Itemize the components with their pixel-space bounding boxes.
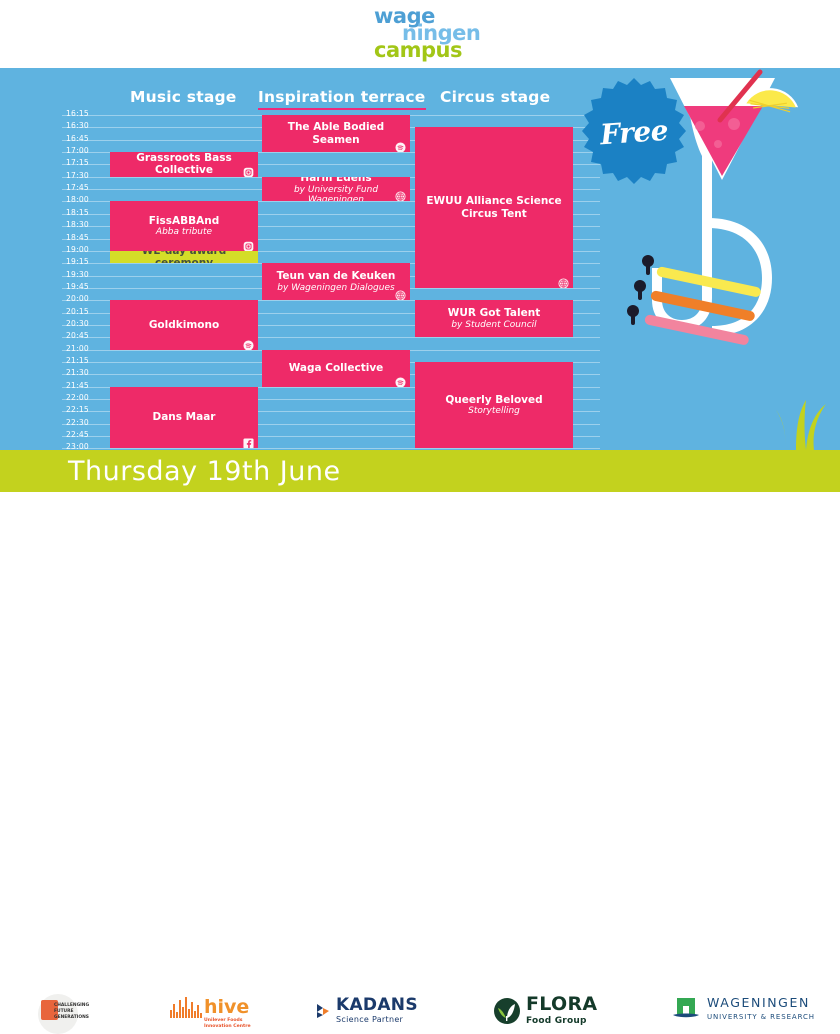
event-title: Teun van de Keuken (277, 270, 396, 282)
globe-icon[interactable] (558, 274, 569, 285)
kadans-tagline: Science Partner (336, 1015, 418, 1024)
time-label: 18:15 (66, 208, 108, 217)
facebook-icon[interactable] (243, 434, 254, 445)
time-label: 20:15 (66, 307, 108, 316)
schedule-event[interactable]: EWUU Alliance Science Circus Tent (415, 127, 573, 288)
schedule-event[interactable]: Dans Maar (110, 387, 258, 449)
hive-wordmark: hive (204, 998, 249, 1016)
event-title: Waga Collective (289, 362, 384, 374)
schedule-event[interactable]: Harm Edensby University Fund Wageningen (262, 177, 410, 202)
schedule-event[interactable]: Grassroots Bass Collective (110, 152, 258, 177)
flora-leaf-icon (494, 998, 520, 1024)
spotify-icon[interactable] (243, 336, 254, 347)
spotify-icon[interactable] (395, 373, 406, 384)
schedule-panel: Free Music stage Inspiration terrace Cir… (0, 68, 840, 450)
time-label: 22:15 (66, 405, 108, 414)
event-title: EWUU Alliance Science Circus Tent (419, 195, 569, 220)
time-label: 18:00 (66, 195, 108, 204)
schedule-event[interactable]: Teun van de Keukenby Wageningen Dialogue… (262, 263, 410, 300)
time-label: 21:15 (66, 356, 108, 365)
event-subtitle: by University Fund Wageningen (266, 185, 406, 202)
logo-line-campus: campus (372, 40, 502, 61)
hive-bars-icon (170, 996, 202, 1018)
time-label: 21:45 (66, 381, 108, 390)
event-subtitle: by Student Council (451, 320, 536, 331)
event-title: Goldkimono (149, 319, 219, 331)
schedule-event[interactable]: WUR Got Talentby Student Council (415, 300, 573, 337)
time-label: 16:45 (66, 134, 108, 143)
flora-tagline: Food Group (526, 1016, 597, 1026)
free-badge-label: Free (574, 72, 694, 192)
schedule-event[interactable]: Goldkimono (110, 300, 258, 349)
schedule-event[interactable]: FissABBAndAbba tribute (110, 201, 258, 250)
schedule-event[interactable]: Queerly BelovedStorytelling (415, 362, 573, 448)
schedule-event[interactable]: WE-day award ceremony (110, 251, 258, 263)
flora-wordmark: FLORA (526, 995, 597, 1014)
cfg-line-3: GENERATIONS (54, 1015, 84, 1021)
wur-mark-icon (672, 997, 700, 1021)
time-label: 17:45 (66, 183, 108, 192)
globe-icon[interactable] (395, 286, 406, 297)
sponsor-logo-kadans: KADANS Science Partner (315, 997, 418, 1024)
time-label: 19:30 (66, 270, 108, 279)
kadans-wordmark: KADANS (336, 997, 418, 1014)
event-subtitle: Abba tribute (156, 227, 212, 238)
time-label: 20:30 (66, 319, 108, 328)
wageningen-campus-logo: wage ningen campus (372, 6, 502, 58)
time-label: 20:00 (66, 294, 108, 303)
time-label: 22:30 (66, 418, 108, 427)
event-title: WE-day award ceremony (114, 251, 254, 263)
spotify-icon[interactable] (395, 138, 406, 149)
event-title: Grassroots Bass Collective (114, 152, 254, 177)
time-label: 16:30 (66, 121, 108, 130)
time-label: 17:15 (66, 158, 108, 167)
time-label: 17:00 (66, 146, 108, 155)
event-title: The Able Bodied Seamen (266, 121, 406, 146)
event-title: Queerly Beloved (445, 394, 542, 406)
globe-icon[interactable] (395, 187, 406, 198)
top-bar: wage ningen campus (0, 0, 840, 68)
time-label: 18:45 (66, 233, 108, 242)
event-title: Harm Edens (300, 177, 371, 185)
instagram-icon[interactable] (243, 237, 254, 248)
column-header-music: Music stage (130, 88, 237, 106)
schedule-table: Music stage Inspiration terrace Circus s… (0, 68, 600, 450)
time-label: 23:00 (66, 442, 108, 450)
sponsor-logo-challenging-future-generations: CHALLENGING FUTURE GENERATIONS (38, 994, 78, 1034)
time-label: 19:15 (66, 257, 108, 266)
column-header-circus: Circus stage (440, 88, 550, 106)
event-subtitle: by Wageningen Dialogues (277, 283, 394, 294)
sponsor-logo-flora: FLORA Food Group (494, 995, 597, 1026)
time-label: 18:30 (66, 220, 108, 229)
date-banner-text: Thursday 19th June (0, 456, 341, 487)
column-header-inspiration: Inspiration terrace (258, 88, 426, 106)
time-label: 22:45 (66, 430, 108, 439)
grid-line (62, 448, 600, 449)
time-label: 20:45 (66, 331, 108, 340)
sponsor-logo-wur: WAGENINGEN UNIVERSITY & RESEARCH (672, 997, 815, 1021)
time-label: 21:00 (66, 344, 108, 353)
event-title: FissABBAnd (149, 215, 220, 227)
schedule-event[interactable]: The Able Bodied Seamen (262, 115, 410, 152)
event-title: WUR Got Talent (448, 307, 540, 319)
hive-sub-2: Innovation Centre (204, 1024, 274, 1030)
time-label: 19:00 (66, 245, 108, 254)
wur-wordmark: WAGENINGEN (707, 997, 815, 1010)
sponsor-logo-hive: hive Unilever Foods Innovation Centre (170, 996, 249, 1018)
stage-headers: Music stage Inspiration terrace Circus s… (0, 78, 600, 104)
time-label: 19:45 (66, 282, 108, 291)
time-label: 17:30 (66, 171, 108, 180)
time-label: 21:30 (66, 368, 108, 377)
instagram-icon[interactable] (243, 163, 254, 174)
time-grid: 16:1516:3016:4517:0017:1517:3017:4518:00… (0, 105, 600, 445)
date-banner: Thursday 19th June (0, 450, 840, 492)
sponsor-bar: CHALLENGING FUTURE GENERATIONS hive Unil… (0, 492, 840, 545)
free-badge: Free (578, 76, 690, 188)
schedule-event[interactable]: Waga Collective (262, 350, 410, 387)
time-label: 16:15 (66, 109, 108, 118)
kadans-mark-icon (315, 1002, 331, 1020)
time-label: 22:00 (66, 393, 108, 402)
wur-tagline: UNIVERSITY & RESEARCH (707, 1013, 815, 1021)
event-subtitle: Storytelling (468, 406, 520, 417)
event-title: Dans Maar (153, 411, 216, 423)
